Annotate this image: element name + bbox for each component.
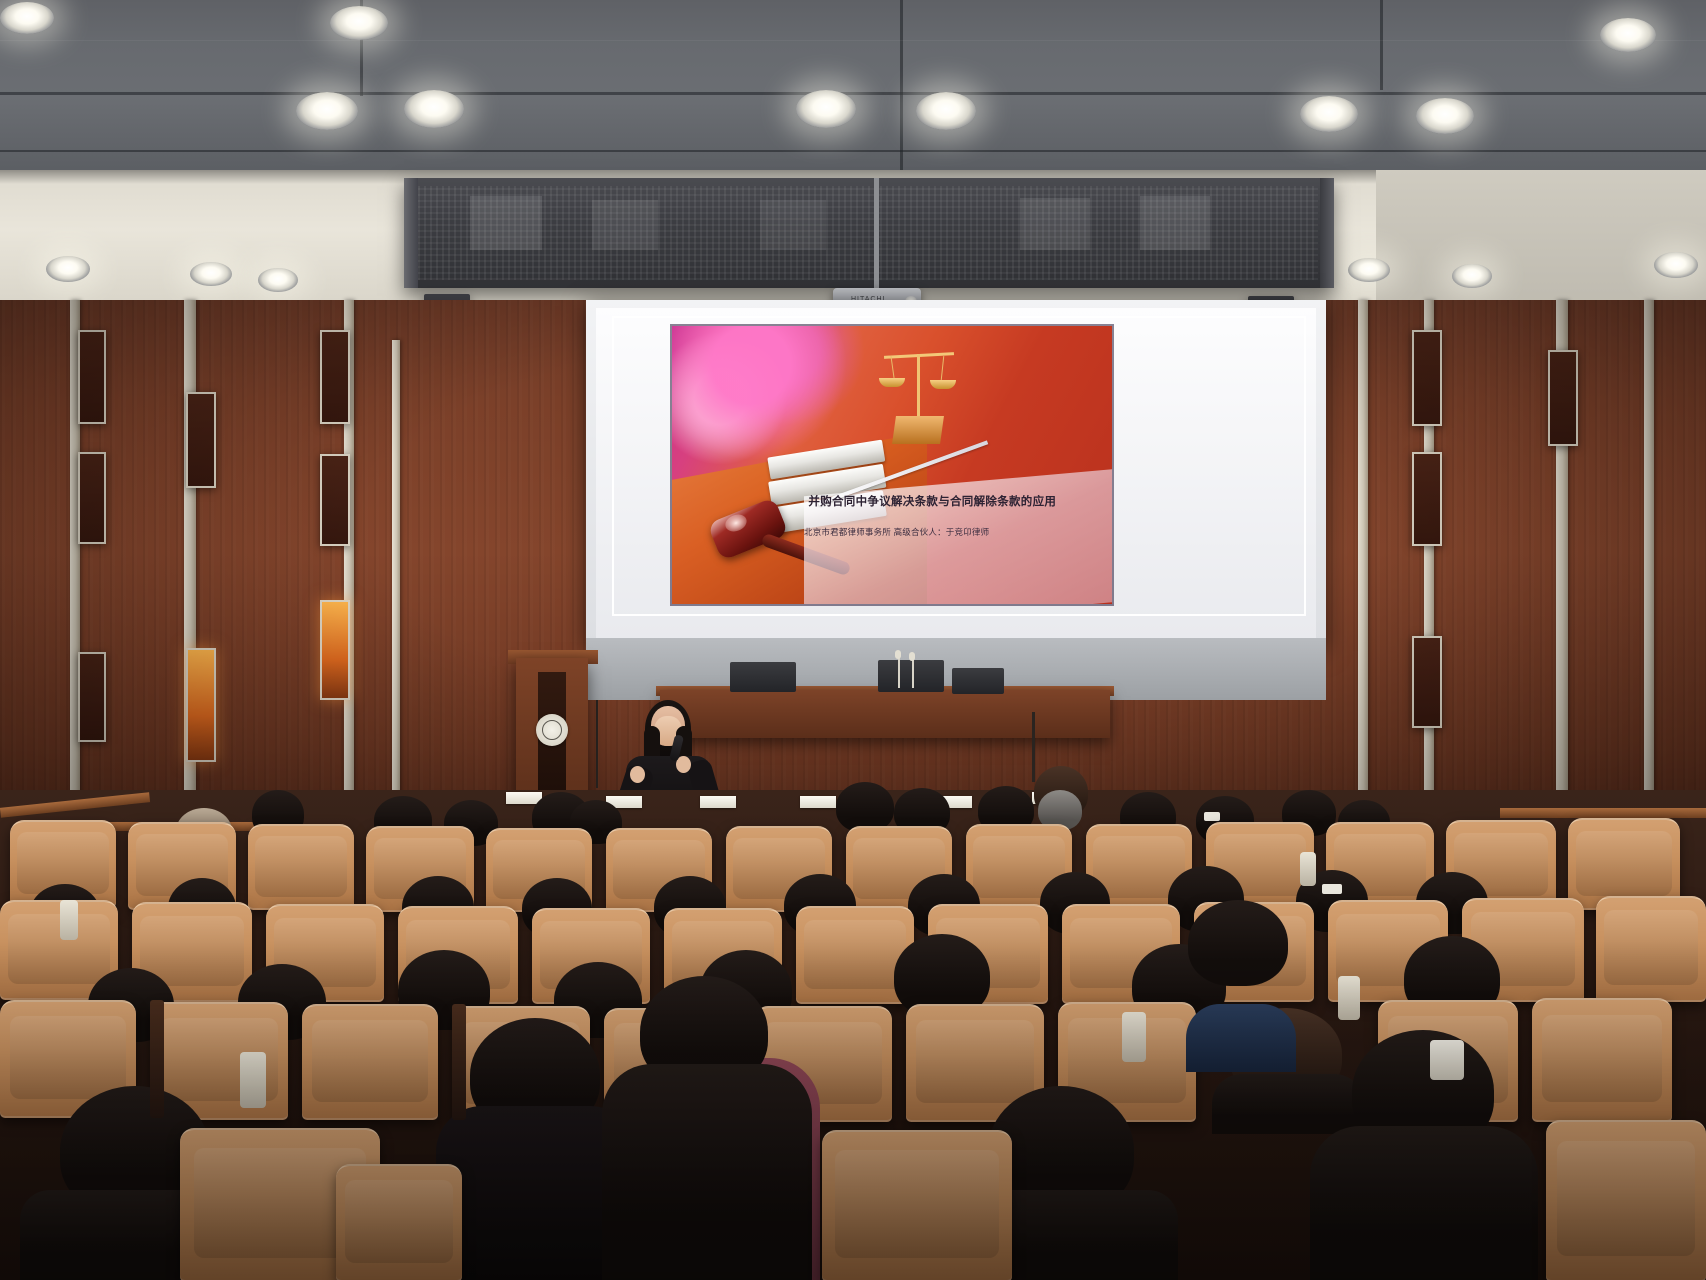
audience-person: [836, 782, 894, 832]
ceiling-seam: [0, 150, 1706, 152]
ceiling-downlight: [1300, 96, 1358, 132]
soffit-downlight: [1452, 264, 1492, 288]
laptop[interactable]: [878, 660, 944, 692]
floor-cable: [1032, 712, 1035, 782]
auditorium-seat[interactable]: [302, 1004, 438, 1120]
audience-shoulders: [1310, 1126, 1538, 1280]
ceiling-downlight: [330, 6, 388, 40]
ceiling-downlight: [1600, 18, 1656, 52]
auditorium-seat[interactable]: [1532, 998, 1672, 1122]
beam-panel: [760, 200, 826, 250]
laptop[interactable]: [952, 668, 1004, 694]
desk-nameplate: [800, 796, 836, 808]
ceiling-seam: [1380, 0, 1383, 90]
desk-nameplate: [700, 796, 736, 808]
presenter-hand: [630, 766, 645, 783]
hair-clip: [1204, 812, 1220, 821]
hair-clip: [1430, 1040, 1464, 1080]
ceiling-downlight: [916, 92, 976, 130]
seat-armrest: [1122, 1012, 1146, 1062]
beam-panel: [1140, 196, 1210, 250]
seat-gap: [150, 1000, 164, 1118]
seat-armrest: [240, 1052, 266, 1108]
hair-clip: [1322, 884, 1342, 894]
ceiling-tile-line: [0, 40, 1706, 41]
laptop[interactable]: [730, 662, 796, 692]
ceiling-downlight: [0, 2, 54, 34]
ceiling-seam: [900, 0, 903, 170]
slide-title: 并购合同中争议解决条款与合同解除条款的应用: [808, 493, 1107, 509]
auditorium-photo: HITACHI 并购合同中争议解决条款与合同解除条款的应用 北京市君都律师事务: [0, 0, 1706, 1280]
table-microphone-head: [909, 652, 915, 661]
audience-shoulders: [602, 1064, 812, 1280]
audience-person: [1188, 900, 1288, 986]
soffit-downlight: [1348, 258, 1390, 282]
beam-panel: [592, 200, 658, 250]
scales-of-justice-icon: [870, 348, 966, 456]
floor-cable: [596, 700, 598, 788]
ceiling-downlight: [296, 92, 358, 130]
auditorium-seat[interactable]: [822, 1130, 1012, 1280]
head-table: [660, 690, 1110, 738]
seat-gap: [452, 1004, 466, 1120]
aisle-rail: [1500, 808, 1706, 818]
ceiling-downlight: [404, 90, 464, 128]
ceiling-downlight: [1416, 98, 1474, 134]
auditorium-seat[interactable]: [1546, 1120, 1706, 1280]
auditorium-seat[interactable]: [1596, 896, 1706, 1002]
audience-shoulders: [1212, 1074, 1364, 1134]
table-microphone-stand: [912, 658, 914, 688]
beam-panel: [1020, 198, 1090, 250]
table-microphone-head: [895, 650, 901, 659]
beam-panel: [470, 196, 542, 250]
seat-armrest: [60, 900, 78, 940]
beam-edge: [1320, 178, 1334, 288]
soffit-downlight: [1654, 252, 1698, 278]
seat-armrest: [1300, 852, 1316, 886]
audience-cap: [1186, 1004, 1296, 1072]
ceiling-seam: [0, 92, 1706, 95]
auditorium-seat[interactable]: [248, 824, 354, 910]
university-emblem-icon: [536, 714, 568, 746]
ceiling-downlight: [796, 90, 856, 128]
upper-wall-right: [1376, 170, 1706, 320]
seat-armrest: [1338, 976, 1360, 1020]
beam-edge: [404, 178, 418, 288]
projector-mount-rod: [874, 178, 879, 290]
slide-subtitle: 北京市君都律师事务所 高级合伙人：于竞卬律师: [804, 526, 1112, 538]
soffit-downlight: [190, 262, 232, 286]
soffit-downlight: [46, 256, 90, 282]
table-microphone-stand: [898, 656, 900, 688]
soffit-downlight: [258, 268, 298, 292]
presentation-slide: 并购合同中争议解决条款与合同解除条款的应用 北京市君都律师事务所 高级合伙人：于…: [672, 326, 1112, 604]
auditorium-seat[interactable]: [336, 1164, 462, 1280]
